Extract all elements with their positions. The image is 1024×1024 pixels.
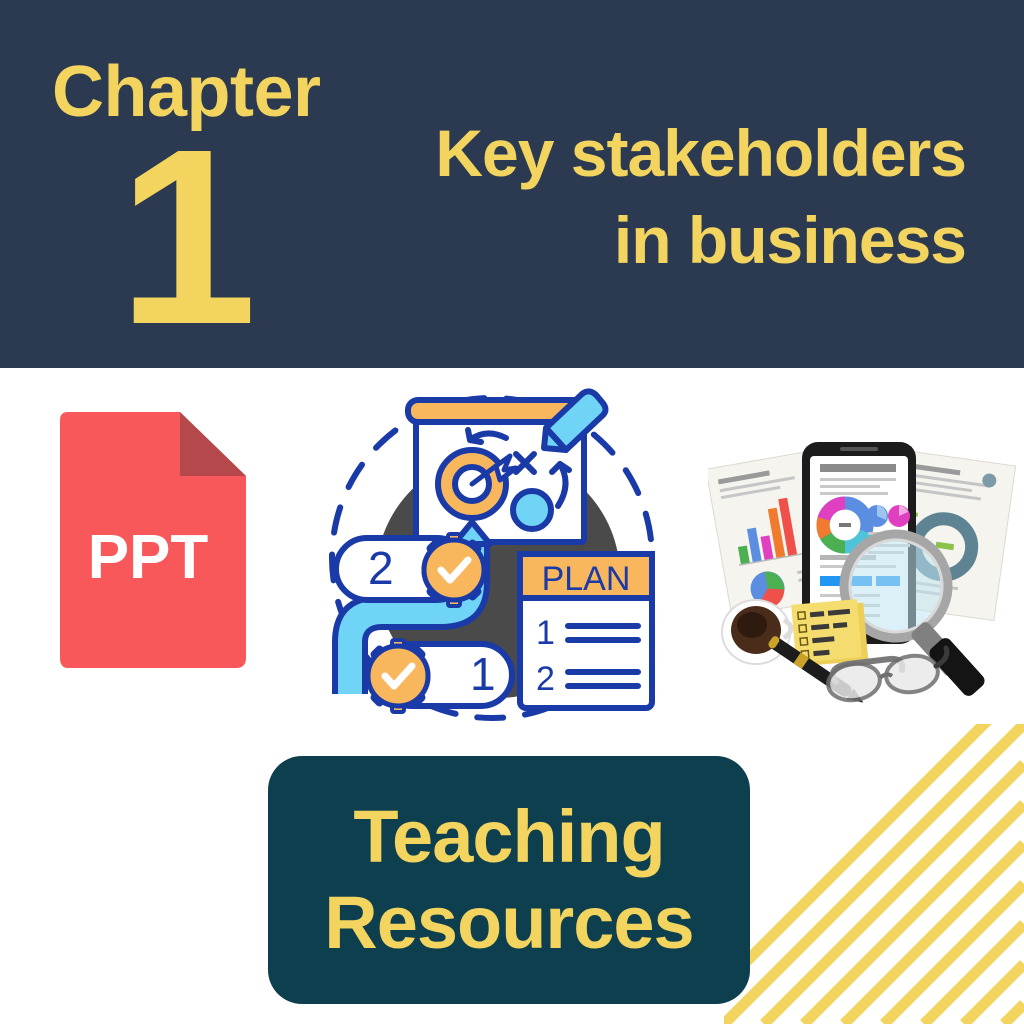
ppt-icon-svg: PPT [48,410,248,672]
badge-line-1: Teaching [353,794,664,880]
badge-line-2: Resources [324,880,693,966]
plan-card-header: PLAN [542,560,631,598]
chapter-number: 1 [118,112,257,362]
blue-dot [513,491,551,529]
plan-item-1-number: 1 [536,614,555,652]
ppt-file-icon: PPT [48,410,248,672]
strategy-illustration-svg: 2 1 [320,388,680,732]
title-line-1: Key stakeholders [346,110,966,197]
step-one-label: 1 [470,648,496,700]
step-two-label: 2 [368,542,394,594]
teaching-resources-badge: Teaching Resources [268,756,750,1004]
strategy-planning-illustration: 2 1 [320,388,680,732]
analytics-illustration-svg [708,424,1020,716]
ppt-icon-label: PPT [88,523,209,592]
header-band: Chapter 1 Key stakeholders in business [0,0,1024,368]
diagonal-stripes-decoration [724,724,1024,1024]
gear-check-two [424,534,484,606]
gear-check-one [368,640,428,712]
plan-item-2-number: 2 [536,660,555,698]
slide-root: Chapter 1 Key stakeholders in business P… [0,0,1024,1024]
business-analytics-illustration [708,424,1020,716]
page-title: Key stakeholders in business [346,110,966,284]
stripes-svg [724,724,1024,1024]
title-line-2: in business [346,197,966,284]
plan-card: PLAN 1 2 [520,554,652,708]
